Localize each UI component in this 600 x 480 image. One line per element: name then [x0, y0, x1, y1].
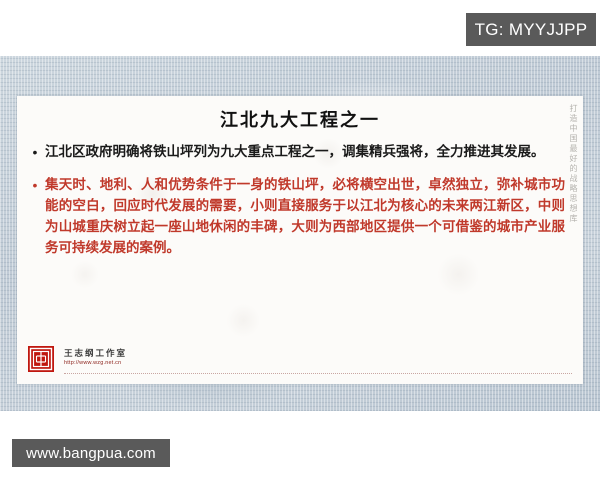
tg-watermark-badge: TG: MYYJJPP	[466, 13, 596, 46]
slide-frame: 江北九大工程之一 打造中国最好的战略思想库 • 江北区政府明确将铁山坪列为九大重…	[0, 56, 600, 411]
company-seal-icon	[28, 346, 54, 372]
slide-body-list: • 江北区政府明确将铁山坪列为九大重点工程之一，调集精兵强将，全力推进其发展。 …	[25, 142, 565, 271]
footer-divider	[64, 373, 572, 374]
list-item: • 江北区政府明确将铁山坪列为九大重点工程之一，调集精兵强将，全力推进其发展。	[25, 142, 565, 163]
bullet-text: 江北区政府明确将铁山坪列为九大重点工程之一，调集精兵强将，全力推进其发展。	[45, 142, 565, 163]
list-item: • 集天时、地利、人和优势条件于一身的铁山坪，必将横空出世，卓然独立，弥补城市功…	[25, 175, 565, 259]
vertical-watermark-text: 打造中国最好的战略思想库	[569, 104, 577, 224]
footer-company-url: http://www.wzg.net.cn	[64, 360, 127, 366]
footer-logo-text-wrap: 王志纲工作室 http://www.wzg.net.cn	[64, 347, 127, 366]
bullet-text: 集天时、地利、人和优势条件于一身的铁山坪，必将横空出世，卓然独立，弥补城市功能的…	[45, 175, 565, 259]
slide-paper-card: 江北九大工程之一 打造中国最好的战略思想库 • 江北区政府明确将铁山坪列为九大重…	[17, 96, 583, 384]
footer-company-name: 王志纲工作室	[64, 347, 127, 359]
footer-logo-block: 王志纲工作室 http://www.wzg.net.cn	[28, 346, 572, 376]
bullet-marker-icon: •	[25, 175, 45, 196]
slide-title: 江北九大工程之一	[17, 106, 583, 132]
bullet-marker-icon: •	[25, 142, 45, 163]
site-watermark-badge: www.bangpua.com	[12, 439, 170, 467]
